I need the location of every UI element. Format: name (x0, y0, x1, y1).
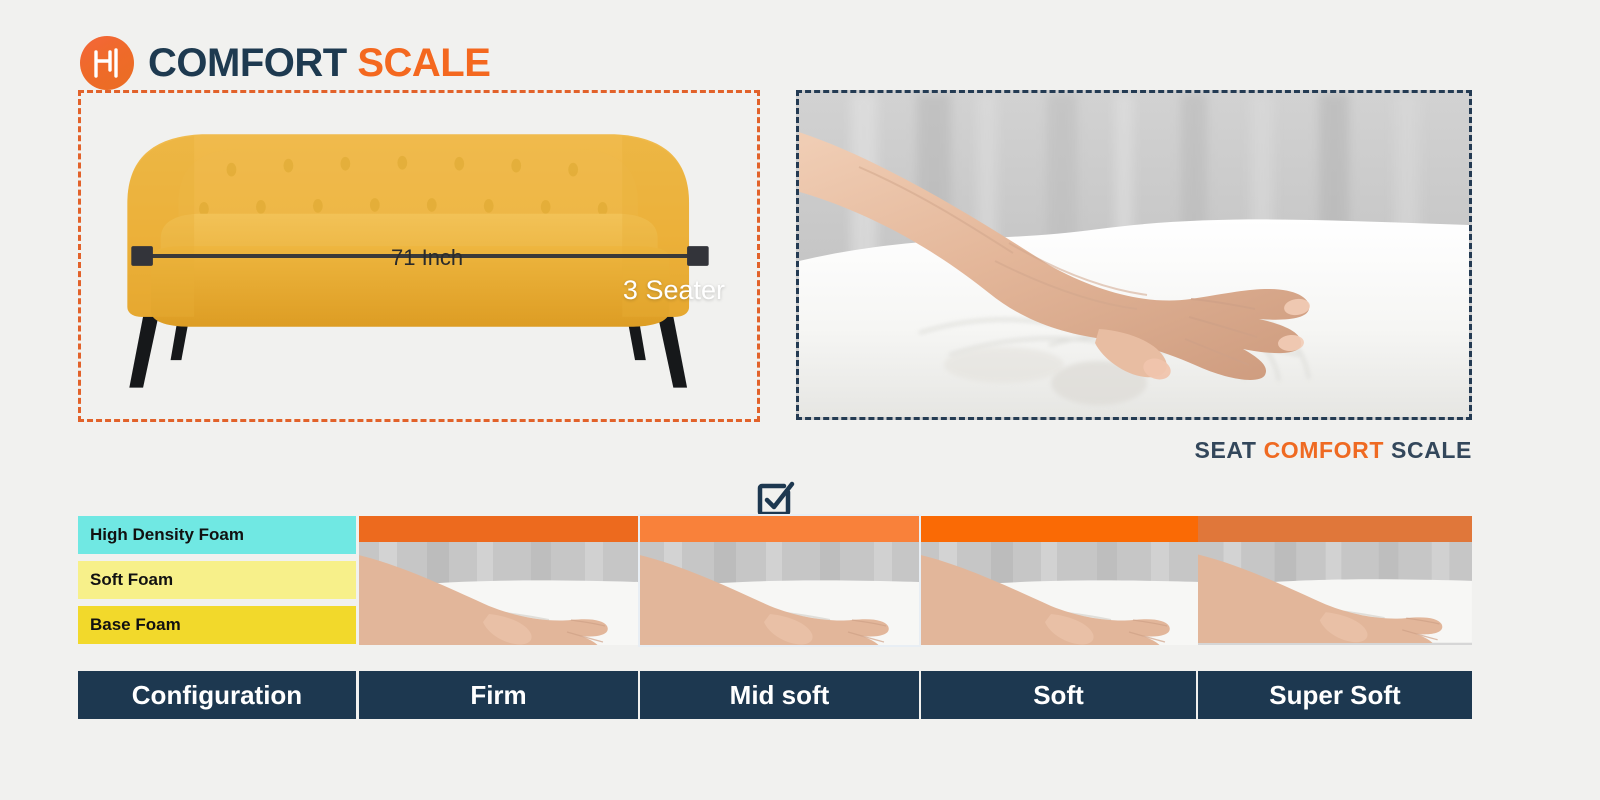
footer-cell-mid-soft[interactable]: Mid soft (640, 671, 919, 719)
layer-label-text: High Density Foam (90, 525, 244, 545)
seat-comfort-scale-caption: SEAT COMFORT SCALE (1195, 437, 1472, 464)
layer-label-base-foam: Base Foam (78, 606, 356, 644)
comfort-option-mid-soft[interactable] (640, 516, 919, 645)
page-header: COMFORT SCALE (80, 36, 490, 90)
seater-label: 3 Seater (623, 275, 725, 306)
page-title-part1: COMFORT (148, 41, 347, 85)
foam-layer-labels: High Density Foam Soft Foam Base Foam (78, 516, 356, 651)
sofa-dimension-panel: 3 Seater 71 Inch (78, 90, 760, 422)
dimension-label: 71 Inch (391, 245, 463, 271)
comfort-option-super-soft[interactable] (1198, 516, 1472, 645)
footer-cell-configuration: Configuration (78, 671, 356, 719)
footer-cell-super-soft[interactable]: Super Soft (1198, 671, 1472, 719)
footer-cell-firm[interactable]: Firm (359, 671, 638, 719)
option-color-bar (640, 516, 919, 542)
option-color-bar (1198, 516, 1472, 542)
layer-label-text: Base Foam (90, 615, 181, 635)
footer-label: Super Soft (1269, 680, 1400, 711)
page-title-part2: SCALE (357, 41, 490, 85)
hand-on-foam-photo (799, 93, 1469, 417)
comfort-scale-infographic: COMFORT SCALE (0, 0, 1600, 800)
layer-label-high-density-foam: High Density Foam (78, 516, 356, 554)
foam-photo-panel (796, 90, 1472, 420)
footer-label: Soft (1033, 680, 1084, 711)
option-color-bar (359, 516, 638, 542)
caption-part1: SEAT (1195, 437, 1257, 463)
comfort-scale-table: High Density Foam Soft Foam Base Foam (78, 516, 1472, 722)
footer-label: Firm (470, 680, 526, 711)
footer-cell-soft[interactable]: Soft (921, 671, 1196, 719)
table-footer-row: Configuration Firm Mid soft Soft Super S… (78, 671, 1472, 719)
comfort-option-firm[interactable] (359, 516, 638, 645)
caption-part2: COMFORT (1264, 437, 1384, 463)
layer-label-text: Soft Foam (90, 570, 173, 590)
chair-logo-icon (80, 36, 134, 90)
comfort-option-soft[interactable] (921, 516, 1200, 645)
footer-label: Configuration (132, 680, 302, 711)
option-color-bar (921, 516, 1200, 542)
footer-label: Mid soft (730, 680, 830, 711)
layer-label-soft-foam: Soft Foam (78, 561, 356, 599)
caption-part3: SCALE (1391, 437, 1472, 463)
page-title: COMFORT SCALE (148, 43, 490, 83)
checked-checkbox-icon[interactable] (752, 474, 796, 518)
